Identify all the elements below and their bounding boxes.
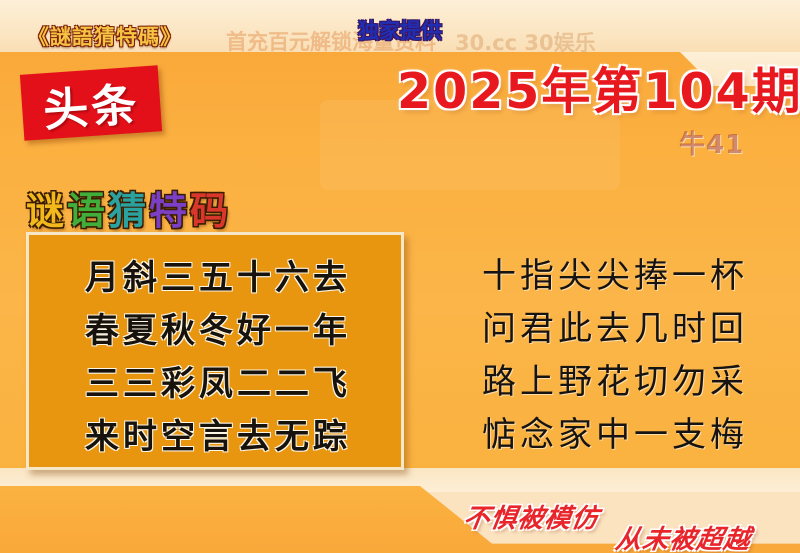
- poem-line: 路上野花切勿采: [440, 354, 790, 403]
- watermark-blue-exclusive: 独家提供: [358, 15, 442, 45]
- rainbow-subtitle-char: 猜: [108, 180, 149, 235]
- rainbow-subtitle: 谜语猜特码: [26, 180, 231, 235]
- riddle-line: 春夏秋冬好一年: [29, 303, 407, 352]
- rainbow-subtitle-char: 语: [67, 180, 108, 235]
- rainbow-subtitle-char: 谜: [26, 180, 67, 235]
- classic-title: 《謎語猜特碼》: [28, 21, 182, 51]
- poem-line: 十指尖尖捧一杯: [440, 248, 790, 297]
- riddle-line: 月斜三五十六去: [29, 250, 407, 299]
- poem-line: 惦念家中一支梅: [440, 407, 790, 456]
- riddle-box: 月斜三五十六去 春夏秋冬好一年 三三彩凤二二飞 来时空言去无踪: [26, 232, 404, 470]
- issue-headline: 2025年第104期: [397, 52, 800, 123]
- rainbow-subtitle-char: 特: [149, 180, 190, 235]
- faded-zodiac-code: 牛41: [679, 124, 744, 161]
- poster-root: 《謎語猜特碼》 首充百元解锁海量资料 30.cc 30娱乐 独家提供 头条 20…: [0, 0, 800, 553]
- riddle-line: 三三彩凤二二飞: [29, 356, 407, 405]
- slogan-left: 不惧被模仿: [461, 498, 602, 535]
- poem-line: 问君此去几时回: [440, 301, 790, 350]
- headline-badge-label: 头条: [20, 65, 162, 140]
- slogan-right: 从未被超越: [613, 519, 754, 553]
- headline-badge: 头条: [20, 65, 162, 140]
- rainbow-subtitle-char: 码: [190, 180, 231, 235]
- riddle-line: 来时空言去无踪: [29, 409, 407, 458]
